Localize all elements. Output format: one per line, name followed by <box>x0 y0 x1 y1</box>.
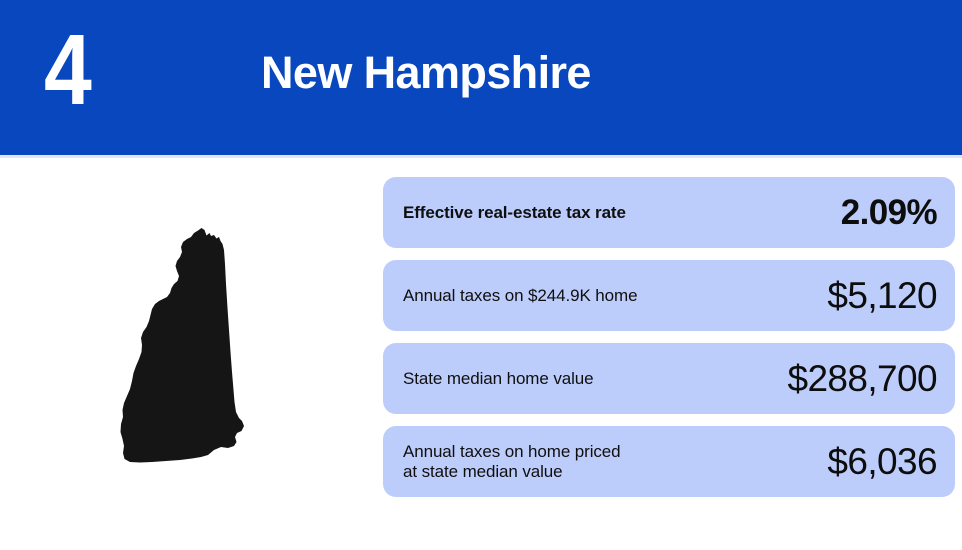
new-hampshire-icon <box>121 228 245 463</box>
stat-value: $6,036 <box>827 442 937 482</box>
stat-label: Effective real-estate tax rate <box>403 203 626 223</box>
stat-label: Annual taxes on $244.9K home <box>403 286 637 306</box>
rank-number: 4 <box>44 20 90 120</box>
header-divider <box>0 155 962 158</box>
header-banner: 4 New Hampshire <box>0 0 962 155</box>
stat-card: Annual taxes on $244.9K home $5,120 <box>383 260 955 331</box>
state-map-silhouette <box>108 222 268 482</box>
stat-card-list: Effective real-estate tax rate 2.09% Ann… <box>383 177 955 509</box>
stat-label: Annual taxes on home priced at state med… <box>403 442 621 482</box>
stat-label: State median home value <box>403 369 594 389</box>
stat-card: Effective real-estate tax rate 2.09% <box>383 177 955 248</box>
stat-card: Annual taxes on home priced at state med… <box>383 426 955 497</box>
stat-card: State median home value $288,700 <box>383 343 955 414</box>
stat-value: 2.09% <box>841 193 937 233</box>
page-title: New Hampshire <box>261 47 591 99</box>
stat-value: $5,120 <box>827 276 937 316</box>
stat-value: $288,700 <box>787 359 937 399</box>
